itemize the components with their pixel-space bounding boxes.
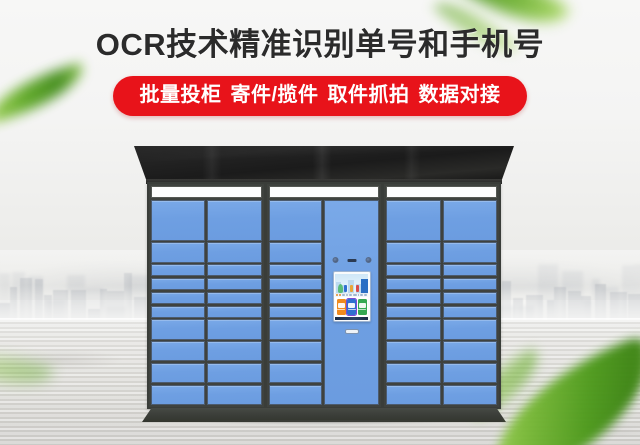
page-title: OCR技术精准识别单号和手机号 xyxy=(0,25,640,64)
locker-door[interactable] xyxy=(443,385,497,405)
locker-door[interactable] xyxy=(269,306,322,318)
kiosk-screen-frame xyxy=(333,271,371,322)
locker-door[interactable] xyxy=(207,292,261,304)
screen-button-ship[interactable] xyxy=(358,299,367,315)
locker-door[interactable] xyxy=(386,319,440,339)
locker-door[interactable] xyxy=(443,200,497,241)
feature-pill-wrap: 批量投柜寄件/揽件取件抓拍数据对接 xyxy=(0,76,640,116)
locker-door[interactable] xyxy=(269,200,322,241)
locker-door[interactable] xyxy=(207,385,261,405)
locker-door[interactable] xyxy=(443,242,497,262)
locker-door[interactable] xyxy=(207,264,261,276)
locker-body xyxy=(147,182,501,409)
locker-door-grid xyxy=(149,198,264,407)
parcel-icon xyxy=(348,303,355,308)
locker-door[interactable] xyxy=(269,264,322,276)
locker-door[interactable] xyxy=(151,341,205,361)
smart-parcel-locker xyxy=(134,146,514,422)
locker-door[interactable] xyxy=(443,341,497,361)
locker-door-grid xyxy=(267,198,382,407)
locker-door[interactable] xyxy=(151,306,205,318)
screen-button-label xyxy=(358,309,366,311)
screen-button-pickup[interactable] xyxy=(347,299,356,315)
left-bay xyxy=(149,184,267,407)
locker-column xyxy=(269,200,322,405)
locker-door[interactable] xyxy=(269,242,322,262)
locker-door[interactable] xyxy=(269,363,322,383)
locker-door[interactable] xyxy=(386,385,440,405)
screen-illustration xyxy=(335,274,368,293)
bay-signage-panel xyxy=(151,186,262,198)
locker-door[interactable] xyxy=(151,363,205,383)
locker-canopy-roof xyxy=(134,146,514,182)
locker-door[interactable] xyxy=(269,319,322,339)
locker-door[interactable] xyxy=(207,363,261,383)
locker-door-grid xyxy=(384,198,499,407)
card-reader-slot[interactable] xyxy=(345,329,359,334)
locker-door[interactable] xyxy=(386,200,440,241)
illustration-person-icon xyxy=(356,285,359,292)
locker-column xyxy=(207,200,261,405)
illustration-locker-icon xyxy=(361,279,368,293)
locker-door[interactable] xyxy=(443,319,497,339)
kiosk-panel xyxy=(324,200,379,405)
locker-door[interactable] xyxy=(443,264,497,276)
feature-pill: 批量投柜寄件/揽件取件抓拍数据对接 xyxy=(113,76,526,116)
kiosk-touchscreen[interactable] xyxy=(335,274,368,320)
locker-door[interactable] xyxy=(207,341,261,361)
locker-door[interactable] xyxy=(151,292,205,304)
screen-action-buttons xyxy=(335,297,368,317)
locker-door[interactable] xyxy=(151,200,205,241)
pill-feature-2: 取件抓拍 xyxy=(328,84,410,106)
locker-door[interactable] xyxy=(443,363,497,383)
locker-door[interactable] xyxy=(386,264,440,276)
locker-door[interactable] xyxy=(443,292,497,304)
locker-door[interactable] xyxy=(386,278,440,290)
locker-door[interactable] xyxy=(207,319,261,339)
bay-signage-panel xyxy=(386,186,497,198)
center-bay xyxy=(267,184,385,407)
locker-door[interactable] xyxy=(151,242,205,262)
locker-column xyxy=(386,200,440,405)
locker-column xyxy=(443,200,497,405)
right-bay xyxy=(384,184,499,407)
locker-door[interactable] xyxy=(386,363,440,383)
locker-door[interactable] xyxy=(386,341,440,361)
screen-button-label xyxy=(337,309,345,311)
locker-door[interactable] xyxy=(207,306,261,318)
locker-door[interactable] xyxy=(151,319,205,339)
locker-door[interactable] xyxy=(386,242,440,262)
indicator-bar-icon xyxy=(347,259,356,262)
bay-signage-panel xyxy=(269,186,380,198)
locker-door[interactable] xyxy=(269,385,322,405)
locker-door[interactable] xyxy=(151,278,205,290)
pill-feature-3: 数据对接 xyxy=(419,84,501,106)
locker-door[interactable] xyxy=(386,292,440,304)
locker-door[interactable] xyxy=(151,385,205,405)
locker-door[interactable] xyxy=(269,292,322,304)
camera-lens-icon xyxy=(365,257,371,263)
locker-door[interactable] xyxy=(269,278,322,290)
locker-door[interactable] xyxy=(269,341,322,361)
locker-door[interactable] xyxy=(151,264,205,276)
locker-door[interactable] xyxy=(443,306,497,318)
pill-feature-0: 批量投柜 xyxy=(139,84,221,106)
locker-column xyxy=(151,200,205,405)
illustration-tree-icon xyxy=(338,284,343,293)
locker-door[interactable] xyxy=(386,306,440,318)
locker-door[interactable] xyxy=(443,278,497,290)
screen-footer-bar xyxy=(335,317,368,320)
parcel-icon xyxy=(359,303,366,308)
header: OCR技术精准识别单号和手机号 批量投柜寄件/揽件取件抓拍数据对接 xyxy=(0,0,640,116)
sensor-row xyxy=(332,257,371,263)
locker-ground-shadow xyxy=(136,420,514,429)
illustration-person-icon xyxy=(350,285,353,292)
locker-door[interactable] xyxy=(207,278,261,290)
parcel-icon xyxy=(338,303,345,308)
pill-feature-1: 寄件/揽件 xyxy=(230,84,318,106)
screen-button-label xyxy=(348,309,356,311)
illustration-person-icon xyxy=(344,285,347,292)
camera-lens-icon xyxy=(332,257,338,263)
screen-button-deposit[interactable] xyxy=(337,299,346,315)
locker-door[interactable] xyxy=(207,242,261,262)
locker-door[interactable] xyxy=(207,200,261,241)
